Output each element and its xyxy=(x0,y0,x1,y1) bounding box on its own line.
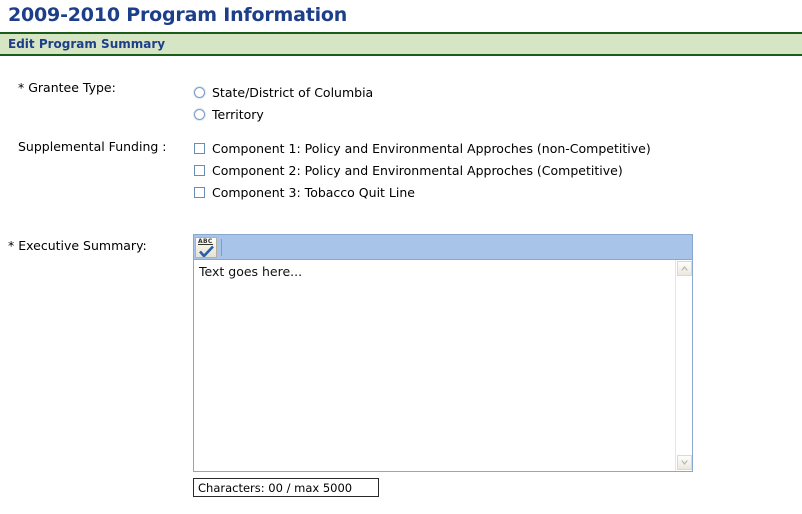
chevron-up-icon xyxy=(680,265,689,272)
spellcheck-button[interactable]: ABC xyxy=(195,237,217,258)
executive-summary-textarea[interactable]: Text goes here... xyxy=(193,259,693,472)
executive-summary-scrollbar[interactable] xyxy=(675,260,692,471)
spellcheck-abc-caption: ABC xyxy=(198,238,213,245)
executive-summary-label: * Executive Summary: xyxy=(8,238,147,253)
toolbar-separator xyxy=(221,239,222,256)
character-counter: Characters: 00 / max 5000 xyxy=(193,478,379,497)
chevron-down-icon xyxy=(680,459,689,466)
radio-state-district-of-columbia[interactable] xyxy=(194,87,205,98)
radio-territory[interactable] xyxy=(194,109,205,120)
section-header-label: Edit Program Summary xyxy=(8,37,165,51)
executive-summary-editor: ABC Text goes here... xyxy=(193,234,693,472)
editor-toolbar: ABC xyxy=(193,234,693,259)
scroll-down-button[interactable] xyxy=(677,455,692,470)
radio-label-state-district-of-columbia: State/District of Columbia xyxy=(212,85,373,100)
checkbox-option-component-2[interactable]: Component 2: Policy and Environmental Ap… xyxy=(194,161,651,179)
checkbox-component-3[interactable] xyxy=(194,187,205,198)
supplemental-funding-checkbox-group: Component 1: Policy and Environmental Ap… xyxy=(194,139,651,205)
checkbox-component-1[interactable] xyxy=(194,143,205,154)
checkbox-option-component-1[interactable]: Component 1: Policy and Environmental Ap… xyxy=(194,139,651,157)
spellcheck-check-icon xyxy=(199,245,214,258)
grantee-type-label: * Grantee Type: xyxy=(18,80,116,95)
checkbox-label-component-1: Component 1: Policy and Environmental Ap… xyxy=(212,141,651,156)
scroll-track[interactable] xyxy=(677,276,691,455)
checkbox-label-component-3: Component 3: Tobacco Quit Line xyxy=(212,185,415,200)
scroll-up-button[interactable] xyxy=(677,261,692,276)
executive-summary-text[interactable]: Text goes here... xyxy=(194,260,675,471)
checkbox-label-component-2: Component 2: Policy and Environmental Ap… xyxy=(212,163,623,178)
section-header-bar: Edit Program Summary xyxy=(0,32,802,56)
grantee-type-radio-group: State/District of Columbia Territory xyxy=(194,83,373,127)
checkbox-component-2[interactable] xyxy=(194,165,205,176)
supplemental-funding-label: Supplemental Funding : xyxy=(18,139,167,154)
page-title: 2009-2010 Program Information xyxy=(8,4,347,26)
radio-option-territory[interactable]: Territory xyxy=(194,105,373,123)
checkbox-option-component-3[interactable]: Component 3: Tobacco Quit Line xyxy=(194,183,651,201)
radio-label-territory: Territory xyxy=(212,107,264,122)
radio-option-state-district-of-columbia[interactable]: State/District of Columbia xyxy=(194,83,373,101)
